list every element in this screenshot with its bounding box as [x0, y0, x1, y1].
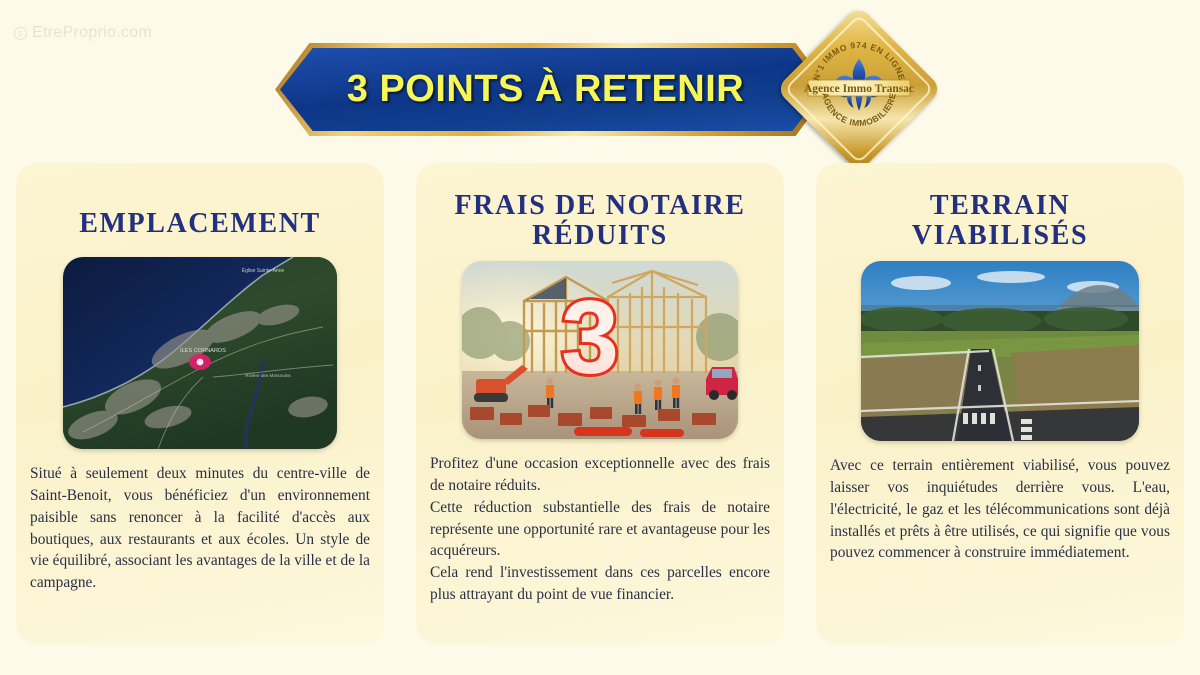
satellite-map-graphic: ILES CORNARDS Église Sainte-Anne Rivière…: [63, 257, 337, 449]
header-banner: 3 POINTS À RETENIR: [275, 43, 830, 136]
watermark: c EtreProprio.com: [14, 24, 152, 42]
card-title-line2: RÉDUITS: [532, 220, 668, 251]
watermark-text: EtreProprio.com: [32, 24, 152, 42]
cards-row: EMPLACEMENT: [0, 163, 1200, 645]
card-paragraph: Cela rend l'investissement dans ces parc…: [430, 562, 770, 606]
card-emplacement[interactable]: EMPLACEMENT: [16, 163, 384, 645]
card-title: FRAIS DE NOTAIRE RÉDUITS: [454, 191, 745, 251]
agency-logo-badge[interactable]: Agence Immo Transac N°1 IMMO 974 EN LIGN…: [800, 30, 918, 148]
card-image-construction-site: 3: [462, 261, 738, 439]
map-label-right: Rivière des Marsouins: [245, 373, 291, 378]
card-paragraph: Profitez d'une occasion exceptionnelle a…: [430, 453, 770, 497]
card-title: EMPLACEMENT: [79, 209, 321, 239]
card-frais-de-notaire[interactable]: FRAIS DE NOTAIRE RÉDUITS: [416, 163, 784, 645]
card-image-satellite-map: ILES CORNARDS Église Sainte-Anne Rivière…: [63, 257, 337, 449]
card-image-aerial-land: [861, 261, 1139, 441]
big-number-three: 3: [561, 280, 619, 396]
card-paragraph: Situé à seulement deux minutes du centre…: [30, 463, 370, 594]
card-title-line1: EMPLACEMENT: [79, 208, 321, 239]
aerial-land-graphic: [861, 261, 1139, 441]
construction-site-graphic: 3: [462, 261, 738, 439]
card-title-line1: FRAIS DE NOTAIRE: [454, 190, 745, 221]
card-paragraph: Avec ce terrain entièrement viabilisé, v…: [830, 455, 1170, 564]
map-label-center: ILES CORNARDS: [180, 348, 226, 354]
logo-graphics: Agence Immo Transac N°1 IMMO 974 EN LIGN…: [800, 30, 918, 148]
copyright-icon: c: [14, 27, 27, 40]
card-title: TERRAIN VIABILISÉS: [912, 191, 1088, 251]
card-title-line1: TERRAIN: [930, 190, 1070, 221]
card-body: Avec ce terrain entièrement viabilisé, v…: [830, 455, 1170, 564]
logo-face: Agence Immo Transac N°1 IMMO 974 EN LIGN…: [800, 30, 918, 148]
map-marker-icon: [189, 354, 211, 370]
logo-center-text: Agence Immo Transac: [804, 83, 914, 95]
card-title-line2: VIABILISÉS: [912, 220, 1088, 251]
map-label-top: Église Sainte-Anne: [242, 267, 285, 274]
card-body: Profitez d'une occasion exceptionnelle a…: [430, 453, 770, 606]
card-terrain-viabilises[interactable]: TERRAIN VIABILISÉS: [816, 163, 1184, 645]
page-title: 3 POINTS À RETENIR: [275, 43, 830, 136]
card-paragraph: Cette réduction substantielle des frais …: [430, 497, 770, 563]
card-body: Situé à seulement deux minutes du centre…: [30, 463, 370, 594]
